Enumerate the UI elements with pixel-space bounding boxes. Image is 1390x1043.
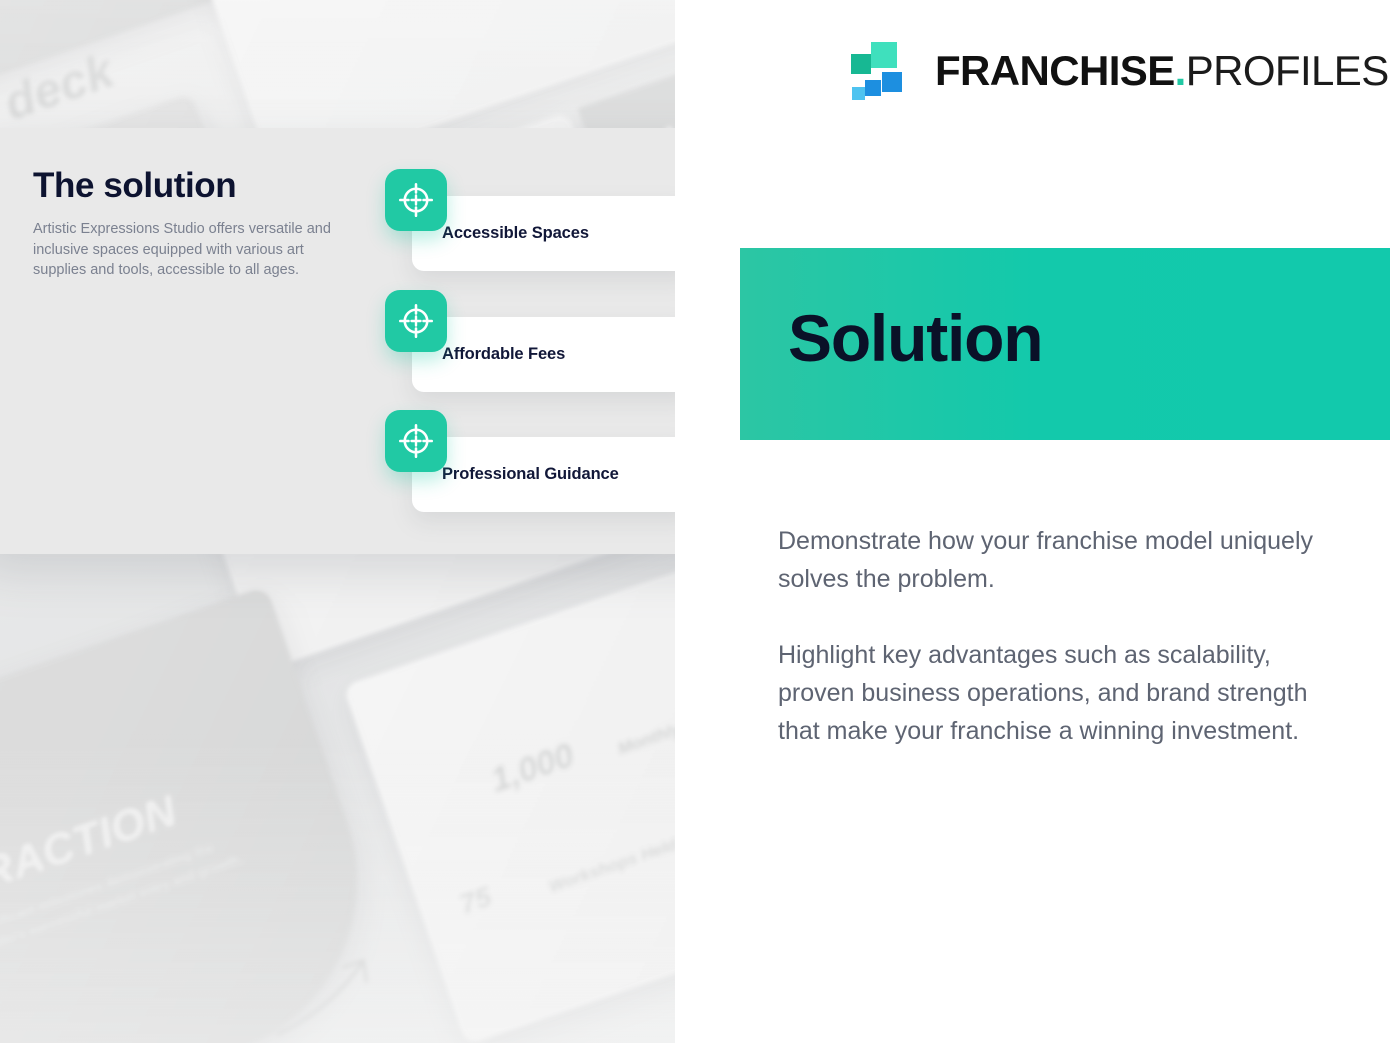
bg-stat-value-2: 75 xyxy=(456,881,496,921)
bg-body-traction: Significant milestones demonstrating the… xyxy=(0,830,246,958)
right-content-column: FRANCHISE.PROFILES Solution Demonstrate … xyxy=(675,0,1390,1043)
brand-name-bold: FRANCHISE xyxy=(935,47,1175,94)
description-paragraph-2: Highlight key advantages such as scalabi… xyxy=(778,636,1318,750)
brand-name-light: PROFILES xyxy=(1186,47,1389,94)
description-paragraph-1: Demonstrate how your franchise model uni… xyxy=(778,522,1318,598)
target-icon xyxy=(385,169,447,231)
bg-stat-value-1: 1,000 xyxy=(486,736,579,801)
bg-slide-cover xyxy=(0,0,251,128)
bg-slide-stats xyxy=(343,540,675,1043)
brand-wordmark: FRANCHISE.PROFILES xyxy=(935,50,1389,92)
feature-label: Professional Guidance xyxy=(442,437,619,512)
slide-canvas: spaces in urban and suburban areas is su… xyxy=(0,0,1390,1043)
feature-label: Accessible Spaces xyxy=(442,196,589,271)
bg-stat-label-1: Monthly Visitors xyxy=(615,698,675,760)
panel-subtitle: Artistic Expressions Studio offers versa… xyxy=(33,219,353,281)
panel-title: The solution xyxy=(33,166,236,206)
bg-stat-label-2: Workshops Held xyxy=(547,835,675,897)
franchise-profiles-logo-icon xyxy=(851,40,913,102)
bg-title-traction: TRACTION xyxy=(0,789,183,907)
brand-name-dot: . xyxy=(1175,47,1186,94)
feature-label: Affordable Fees xyxy=(442,317,565,392)
brand-logo: FRANCHISE.PROFILES xyxy=(851,40,1389,102)
target-icon xyxy=(385,410,447,472)
section-title: Solution xyxy=(788,305,1042,371)
bg-slide-traction xyxy=(0,586,406,1043)
bg-blob-problem xyxy=(278,0,675,6)
target-icon xyxy=(385,290,447,352)
bg-arrow-icon-3 xyxy=(257,952,390,1043)
